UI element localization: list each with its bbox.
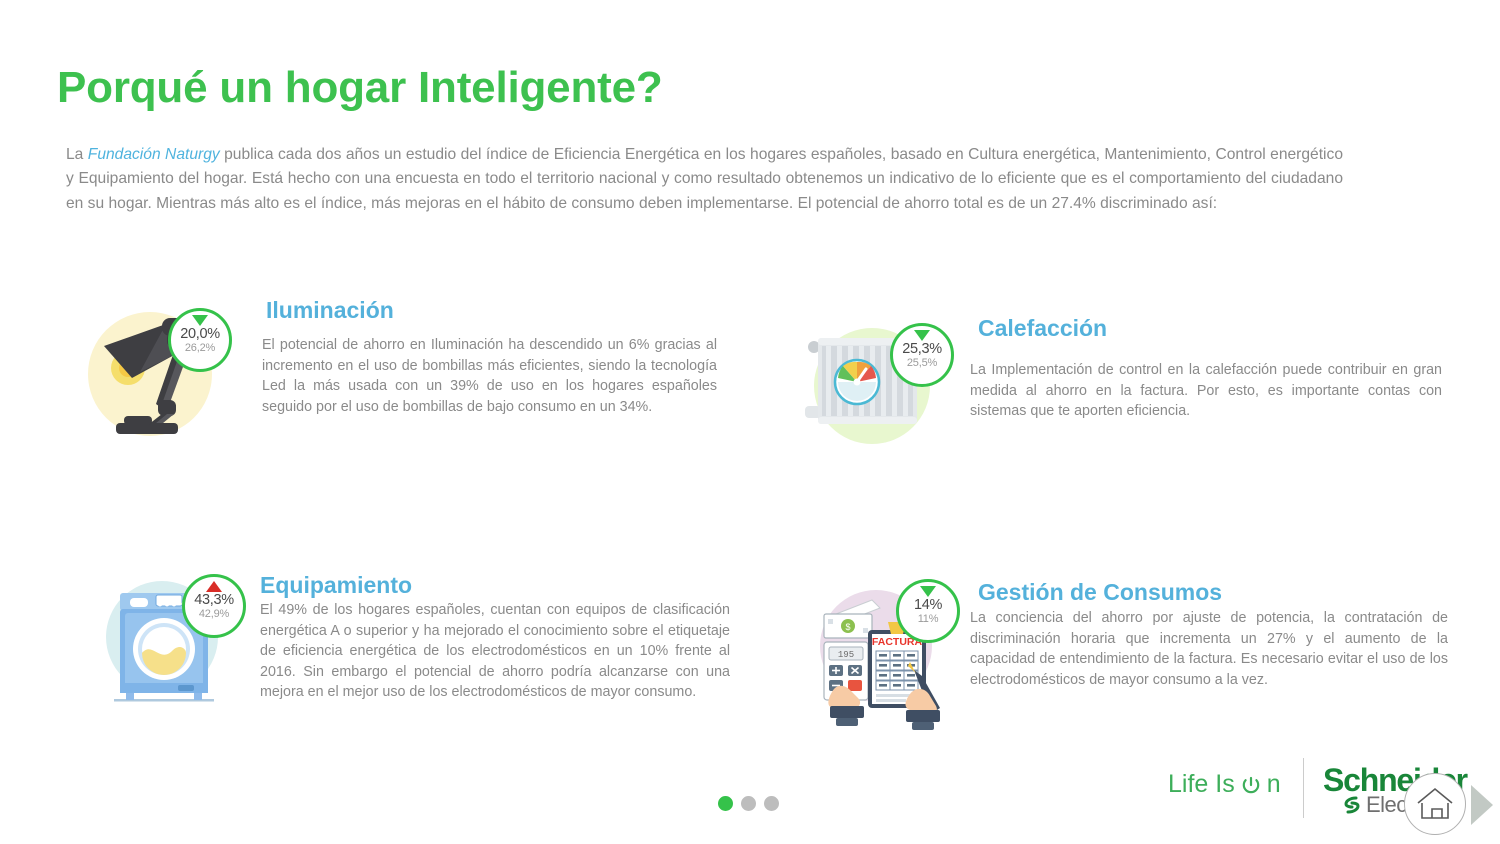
tagline-text-b: n	[1267, 770, 1281, 799]
tagline-text-a: Life Is	[1168, 770, 1235, 799]
life-is-on-tagline: Life Is n	[1168, 770, 1281, 799]
badge-previous-value: 25,5%	[907, 357, 937, 370]
badge-equipamiento: 43,3% 42,9%	[182, 574, 246, 638]
card-title-equipamiento: Equipamiento	[260, 571, 730, 599]
badge-value: 14%	[914, 598, 942, 613]
card-body: Equipamiento El 49% de los hogares españ…	[260, 571, 730, 703]
fundacion-naturgy-link[interactable]: Fundación Naturgy	[88, 146, 220, 163]
home-icon-overlay[interactable]	[1404, 773, 1466, 835]
trend-up-icon	[206, 581, 222, 592]
pagination-dot-2[interactable]	[741, 796, 756, 811]
card-text-calefaccion: La Implementación de control en la calef…	[970, 360, 1442, 422]
trend-down-icon	[192, 315, 208, 326]
card-text-gestion-de-consumos: La conciencia del ahorro por ajuste de p…	[970, 608, 1448, 690]
card-title-iluminacion: Iluminación	[262, 296, 717, 324]
badge-previous-value: 26,2%	[185, 342, 215, 355]
card-text-equipamiento: El 49% de los hogares españoles, cuentan…	[260, 600, 730, 703]
trend-down-icon	[914, 330, 930, 341]
schneider-s-icon	[1341, 794, 1363, 816]
svg-text:$: $	[845, 622, 850, 632]
badge-previous-value: 11%	[918, 613, 939, 626]
card-text-iluminacion: El potencial de ahorro en Iluminación ha…	[262, 335, 717, 417]
pagination-dots[interactable]	[718, 796, 779, 811]
pagination-dot-3[interactable]	[764, 796, 779, 811]
badge-value: 20,0%	[180, 327, 220, 342]
badge-gestion-de-consumos: 14% 11%	[896, 579, 960, 643]
card-body: Iluminación El potencial de ahorro en Il…	[262, 296, 717, 417]
trend-down-icon	[920, 586, 936, 597]
temperature-gauge-icon	[835, 360, 879, 404]
home-icon	[1414, 785, 1456, 823]
intro-rest: publica cada dos años un estudio del índ…	[66, 146, 1343, 212]
card-body: Gestión de Consumos La conciencia del ah…	[970, 578, 1448, 690]
badge-value: 43,3%	[194, 593, 234, 608]
badge-calefaccion: 25,3% 25,5%	[890, 323, 954, 387]
badge-value: 25,3%	[902, 342, 942, 357]
chevron-right-icon[interactable]	[1465, 783, 1499, 827]
card-title-gestion-de-consumos: Gestión de Consumos	[970, 578, 1448, 606]
card-title-calefaccion: Calefacción	[970, 314, 1442, 342]
power-icon	[1241, 774, 1261, 796]
badge-iluminacion: 20,0% 26,2%	[168, 308, 232, 372]
page-title: Porqué un hogar Inteligente?	[57, 62, 663, 114]
card-body: Calefacción La Implementación de control…	[970, 314, 1442, 422]
badge-previous-value: 42,9%	[199, 608, 229, 621]
calculator-display: 195	[838, 650, 854, 660]
intro-paragraph: La Fundación Naturgy publica cada dos añ…	[66, 143, 1343, 217]
footer-branding: Life Is n Schneider Electric	[1160, 758, 1500, 844]
intro-prefix: La	[66, 146, 88, 163]
pagination-dot-1[interactable]	[718, 796, 733, 811]
brand-divider	[1303, 758, 1304, 818]
